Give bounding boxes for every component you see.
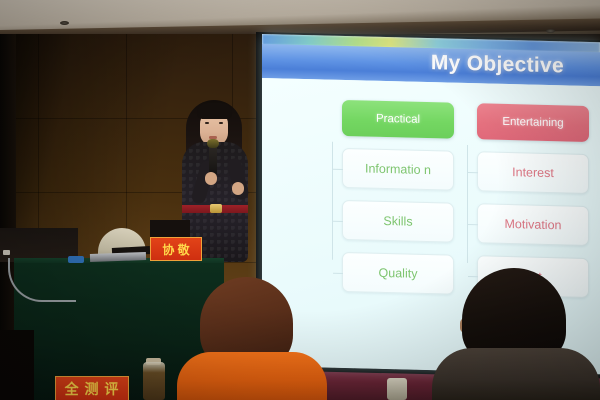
foreground-shadow (0, 330, 34, 400)
audience-man-shirt (432, 348, 600, 400)
connector-line (467, 145, 468, 263)
slide-head-label: Entertaining (502, 116, 563, 129)
presentation-photo: My Objective Practical Informatio n Skil… (0, 0, 600, 400)
speaker-hand-right (232, 182, 244, 195)
audience-woman-jacket (177, 352, 327, 400)
connector-line (468, 172, 478, 173)
slide-head-practical: Practical (342, 100, 454, 139)
connector-line (332, 142, 333, 260)
connector-line (333, 169, 343, 170)
microphone-head-icon (207, 139, 219, 148)
ceiling-light-icon (60, 21, 69, 25)
connector-line (468, 224, 478, 225)
connector-line (333, 273, 343, 274)
slide-item-label: Informatio n (365, 161, 431, 178)
ceiling-light-icon (546, 29, 555, 33)
water-bottle (143, 362, 165, 400)
slide-item-motivation: Motivation (477, 203, 589, 246)
water-bottle-secondary (387, 378, 407, 400)
slide-column-practical: Practical Informatio n Skills Quality (342, 100, 454, 295)
slide-head-label: Practical (376, 113, 420, 126)
slide-column-entertaining: Entertaining Interest Motivation ent (477, 103, 589, 298)
slide-item-label: Interest (512, 165, 554, 181)
slide-item-quality: Quality (342, 252, 454, 295)
laptop-monitor (0, 228, 78, 262)
connector-line (468, 276, 478, 277)
slide-head-entertaining: Entertaining (477, 103, 589, 142)
page-title: My Objective (431, 51, 564, 78)
slide-item-label: Motivation (505, 216, 562, 232)
speaker-eye (219, 122, 223, 124)
slide-item-interest: Interest (477, 151, 589, 194)
monitor-button-icon (3, 250, 10, 255)
slide-item-skills: Skills (342, 200, 454, 243)
slide-item-label: Quality (379, 265, 418, 281)
speaker-bangs (197, 103, 232, 119)
slide-item-label: Skills (383, 213, 412, 229)
speaker-belt-buckle (210, 204, 222, 213)
speaker-hand-left (205, 172, 217, 185)
name-placard-table: 协 敬 (150, 237, 202, 261)
slide-item-information: Informatio n (342, 148, 454, 191)
connector-line (333, 221, 343, 222)
speaker-eye (205, 122, 209, 124)
name-placard-foreground: 全 测 评 (55, 376, 129, 400)
